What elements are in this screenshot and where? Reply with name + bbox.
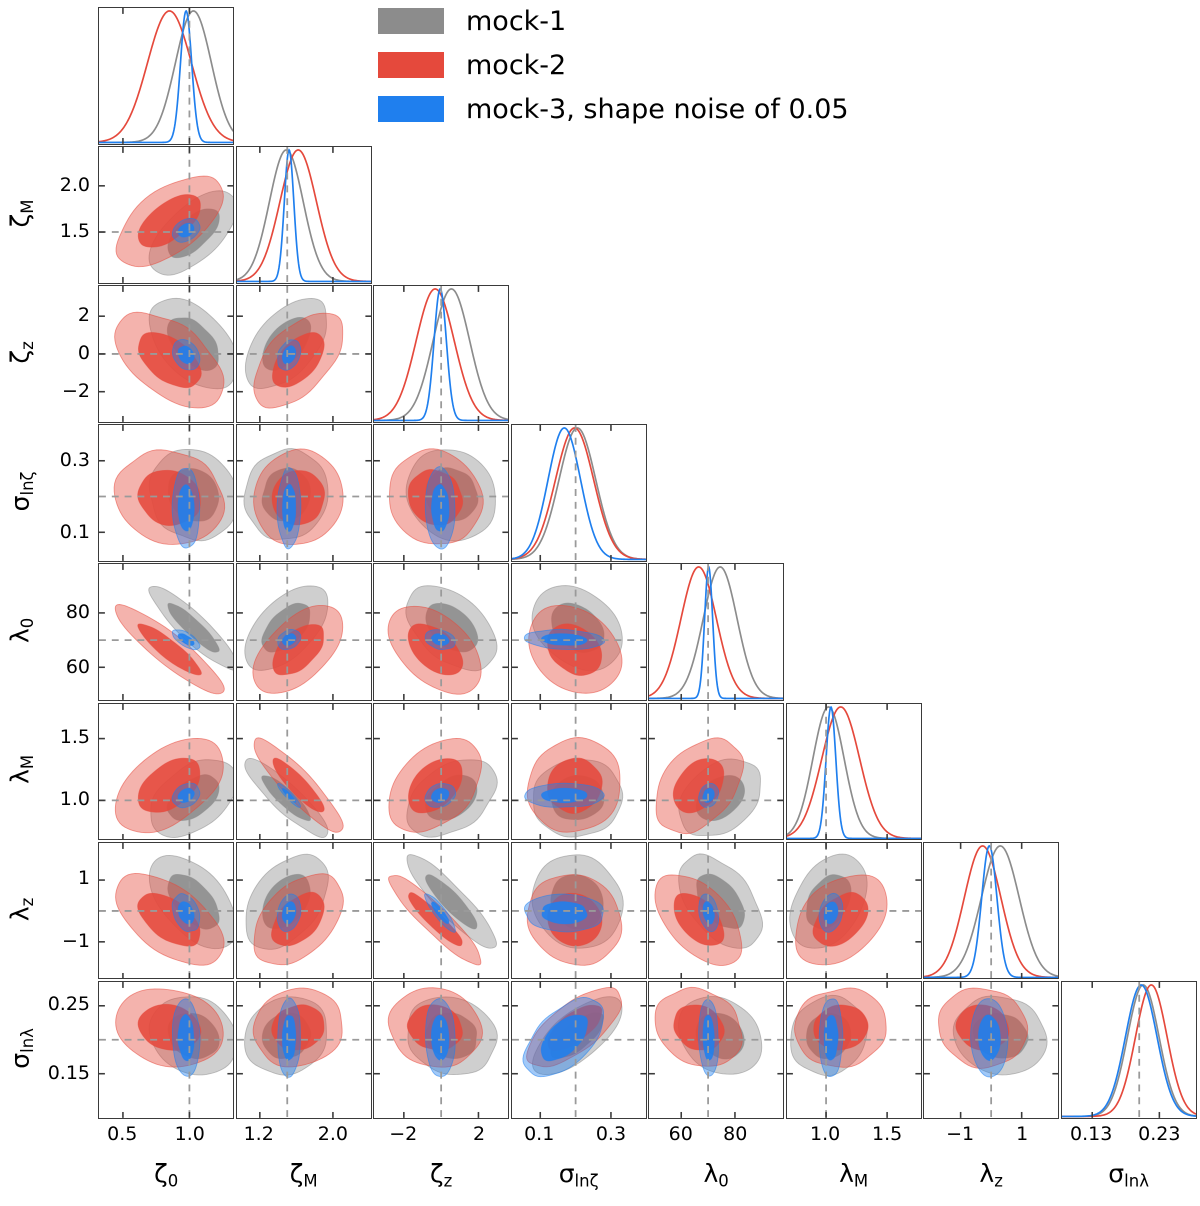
y-axis-label-zeta_M: ζM bbox=[8, 143, 37, 283]
panel-sigma_lnlambda-vs-sigma_lnzeta bbox=[511, 981, 647, 1119]
panel-zeta_z-vs-zeta_M bbox=[236, 285, 372, 423]
y-axis-label-sigma_lnzeta: σlnζ bbox=[8, 422, 37, 562]
panel-diagonal-sigma_lnzeta bbox=[511, 424, 647, 562]
panel-sigma_lnzeta-vs-zeta_0 bbox=[98, 424, 234, 562]
x-axis-label-zeta_z: ζz bbox=[371, 1161, 511, 1190]
panel-sigma_lnlambda-vs-zeta_z bbox=[373, 981, 509, 1119]
panel-lambda_0-vs-zeta_z bbox=[373, 563, 509, 701]
panel-lambda_z-vs-zeta_z bbox=[373, 842, 509, 980]
contour-mock3-68 bbox=[431, 485, 449, 532]
panel-sigma_lnlambda-vs-zeta_M bbox=[236, 981, 372, 1119]
panel-diagonal-lambda_z bbox=[923, 842, 1059, 980]
contour-group-mock3 bbox=[425, 467, 455, 549]
panel-lambda_M-vs-sigma_lnzeta bbox=[511, 703, 647, 841]
axis-subscript: M bbox=[854, 1171, 868, 1190]
contour-group-mock3 bbox=[819, 999, 843, 1077]
axis-symbol: λ bbox=[6, 770, 35, 785]
panel-diagonal-lambda_0 bbox=[648, 563, 784, 701]
axis-subscript: lnζ bbox=[575, 1171, 599, 1190]
panel-lambda_0-vs-zeta_M bbox=[236, 563, 372, 701]
panel-lambda_z-vs-sigma_lnzeta bbox=[511, 842, 647, 980]
panel-sigma_lnlambda-vs-lambda_M bbox=[786, 981, 922, 1119]
x-tick-label-zeta_M-0: 1.2 bbox=[219, 1125, 299, 1144]
panel-lambda_z-vs-lambda_0 bbox=[648, 842, 784, 980]
contour-mock3-68 bbox=[282, 1015, 295, 1060]
marginal-curve-mock3 bbox=[649, 568, 783, 699]
panel-zeta_z-vs-zeta_0 bbox=[98, 285, 234, 423]
marginal-curve-mock3 bbox=[787, 707, 921, 838]
panel-lambda_M-vs-zeta_0 bbox=[98, 703, 234, 841]
marginal-curve-mock1 bbox=[1062, 985, 1196, 1116]
panel-sigma_lnlambda-vs-zeta_0 bbox=[98, 981, 234, 1119]
legend-label: mock-3, shape noise of 0.05 bbox=[466, 96, 849, 123]
contour-group-mock3 bbox=[524, 894, 603, 932]
x-tick-label-sigma_lnzeta-0: 0.1 bbox=[499, 1125, 579, 1144]
panel-sigma_lnzeta-vs-zeta_z bbox=[373, 424, 509, 562]
panel-diagonal-zeta_0 bbox=[98, 7, 234, 145]
contour-mock3-68 bbox=[542, 901, 587, 923]
marginal-curve-mock2 bbox=[99, 11, 233, 142]
axis-symbol: ζ bbox=[290, 1159, 304, 1188]
panel-sigma_lnzeta-vs-zeta_M bbox=[236, 424, 372, 562]
axis-symbol: ζ bbox=[154, 1159, 168, 1188]
panel-lambda_z-vs-zeta_M bbox=[236, 842, 372, 980]
panel-sigma_lnlambda-vs-lambda_0 bbox=[648, 981, 784, 1119]
axis-subscript: lnζ bbox=[18, 472, 37, 496]
corner-plot-figure: mock-1mock-2mock-3, shape noise of 0.05 … bbox=[0, 0, 1200, 1206]
axis-subscript: z bbox=[444, 1171, 453, 1190]
panel-diagonal-zeta_z bbox=[373, 285, 509, 423]
legend-entry-mock-2: mock-2 bbox=[378, 50, 849, 80]
x-axis-label-lambda_0: λ0 bbox=[646, 1161, 786, 1190]
axis-symbol: λ bbox=[839, 1159, 854, 1188]
x-tick-label-zeta_z-0: −2 bbox=[363, 1125, 443, 1144]
x-axis-label-lambda_z: λz bbox=[921, 1161, 1061, 1190]
axis-symbol: ζ bbox=[6, 350, 35, 364]
gray-swatch bbox=[378, 8, 444, 34]
panel-sigma_lnlambda-vs-lambda_z bbox=[923, 981, 1059, 1119]
legend-label: mock-2 bbox=[466, 52, 566, 79]
axis-symbol: λ bbox=[703, 1159, 718, 1188]
axis-subscript: M bbox=[303, 1171, 317, 1190]
axis-symbol: ζ bbox=[6, 214, 35, 228]
axis-subscript: lnλ bbox=[1124, 1171, 1149, 1190]
axis-subscript: lnλ bbox=[18, 1028, 37, 1053]
panel-zeta_M-vs-zeta_0 bbox=[98, 146, 234, 284]
marginal-curve-mock3 bbox=[1062, 985, 1196, 1116]
axis-symbol: λ bbox=[6, 629, 35, 644]
axis-subscript: 0 bbox=[18, 618, 37, 629]
axis-subscript: 0 bbox=[168, 1171, 179, 1190]
axis-subscript: M bbox=[18, 755, 37, 769]
x-axis-label-sigma_lnlambda: σlnλ bbox=[1059, 1161, 1199, 1190]
contour-group-mock3 bbox=[277, 998, 300, 1077]
panel-lambda_0-vs-zeta_0 bbox=[98, 563, 234, 701]
axis-symbol: λ bbox=[979, 1159, 994, 1188]
y-axis-label-sigma_lnlambda: σlnλ bbox=[8, 978, 37, 1118]
marginal-curve-mock1 bbox=[787, 706, 921, 837]
contour-mock3-68 bbox=[178, 485, 194, 531]
y-axis-label-lambda_z: λz bbox=[8, 839, 37, 979]
axis-subscript: z bbox=[18, 897, 37, 906]
panel-diagonal-sigma_lnlambda bbox=[1061, 981, 1197, 1119]
contour-mock3-68 bbox=[431, 1015, 449, 1060]
axis-subscript: M bbox=[18, 200, 37, 214]
axis-symbol: ζ bbox=[430, 1159, 444, 1188]
panel-lambda_0-vs-sigma_lnzeta bbox=[511, 563, 647, 701]
panel-lambda_z-vs-lambda_M bbox=[786, 842, 922, 980]
x-axis-label-zeta_0: ζ0 bbox=[96, 1161, 236, 1190]
x-tick-label-sigma_lnzeta-1: 0.3 bbox=[571, 1125, 651, 1144]
marginal-curve-mock1 bbox=[237, 150, 371, 281]
panel-lambda_M-vs-zeta_M bbox=[236, 703, 372, 841]
x-axis-label-sigma_lnzeta: σlnζ bbox=[509, 1161, 649, 1190]
panel-diagonal-lambda_M bbox=[786, 703, 922, 841]
y-axis-label-zeta_z: ζz bbox=[8, 283, 37, 423]
contour-group-mock3 bbox=[524, 783, 604, 807]
axis-symbol: σ bbox=[6, 1053, 35, 1069]
axis-symbol: σ bbox=[6, 496, 35, 512]
marginal-curve-mock2 bbox=[787, 706, 921, 837]
x-axis-label-zeta_M: ζM bbox=[234, 1161, 374, 1190]
x-tick-label-zeta_M-1: 2.0 bbox=[293, 1125, 373, 1144]
axis-symbol: λ bbox=[6, 906, 35, 921]
blue-swatch bbox=[378, 96, 444, 122]
red-swatch bbox=[378, 52, 444, 78]
x-tick-label-sigma_lnlambda-1: 0.23 bbox=[1119, 1125, 1199, 1144]
marginal-curve-mock2 bbox=[1062, 985, 1196, 1116]
marginal-curve-mock3 bbox=[512, 428, 646, 559]
legend-entry-mock-3: mock-3, shape noise of 0.05 bbox=[378, 94, 849, 124]
x-tick-label-lambda_M-1: 1.5 bbox=[847, 1125, 927, 1144]
contour-mock3-68 bbox=[282, 485, 295, 532]
legend-label: mock-1 bbox=[466, 8, 566, 35]
panel-lambda_M-vs-lambda_0 bbox=[648, 703, 784, 841]
axis-symbol: σ bbox=[559, 1159, 575, 1188]
legend-entry-mock-1: mock-1 bbox=[378, 6, 849, 36]
axis-subscript: z bbox=[994, 1171, 1003, 1190]
panel-diagonal-zeta_M bbox=[236, 146, 372, 284]
axis-symbol: σ bbox=[1108, 1159, 1124, 1188]
y-axis-label-lambda_0: λ0 bbox=[8, 561, 37, 701]
contour-group-mock3 bbox=[522, 997, 603, 1076]
legend: mock-1mock-2mock-3, shape noise of 0.05 bbox=[378, 6, 849, 124]
panel-lambda_M-vs-zeta_z bbox=[373, 703, 509, 841]
x-tick-label-lambda_z-1: 1 bbox=[982, 1125, 1062, 1144]
marginal-curve-mock2 bbox=[237, 150, 371, 281]
x-tick-label-lambda_0-1: 80 bbox=[695, 1125, 775, 1144]
panel-lambda_z-vs-zeta_0 bbox=[98, 842, 234, 980]
x-axis-label-lambda_M: λM bbox=[784, 1161, 924, 1190]
axis-subscript: z bbox=[18, 341, 37, 350]
y-axis-label-lambda_M: λM bbox=[8, 700, 37, 840]
axis-subscript: 0 bbox=[718, 1171, 729, 1190]
marginal-curve-mock3 bbox=[237, 150, 371, 281]
